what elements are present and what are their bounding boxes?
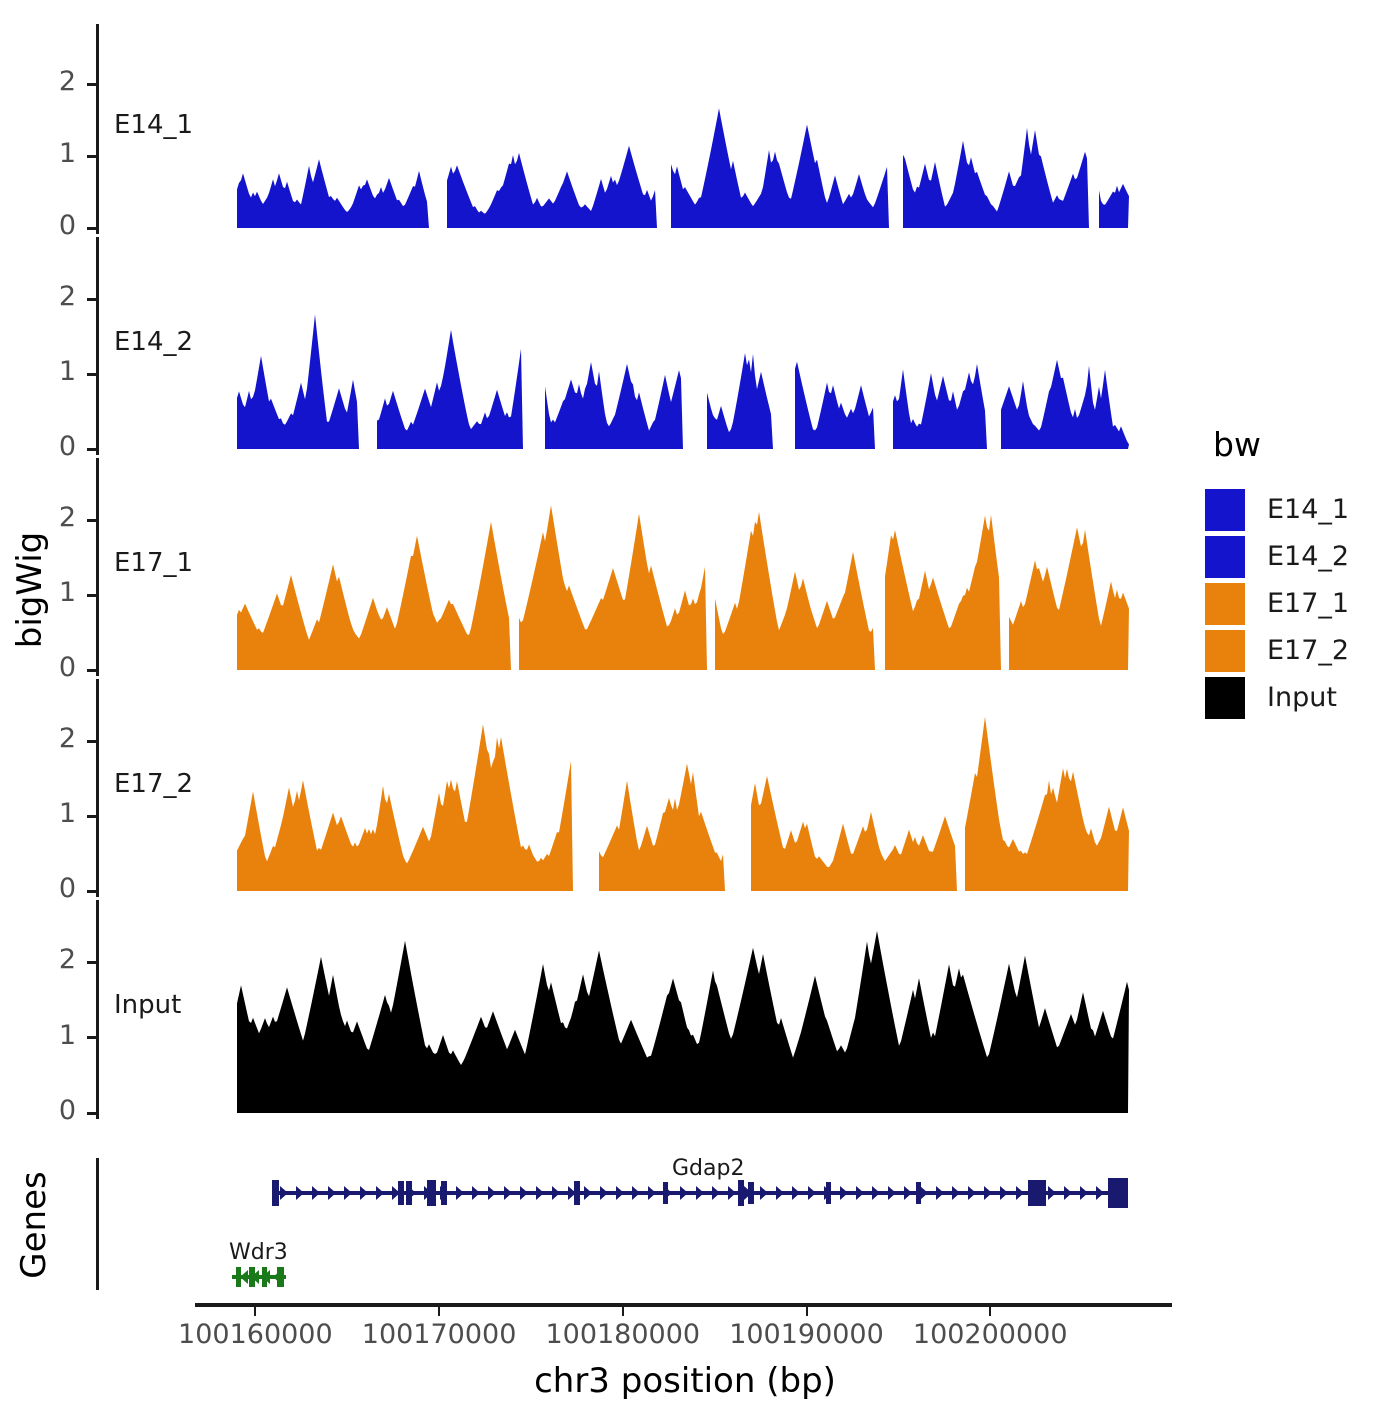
strand-arrow-icon: [664, 1186, 672, 1200]
y-axis-tick: [87, 669, 96, 672]
strand-arrow-icon: [920, 1186, 928, 1200]
strand-arrow-icon: [488, 1186, 496, 1200]
strand-arrow-icon: [744, 1186, 752, 1200]
strand-arrow-icon: [840, 1186, 848, 1200]
strand-arrow-icon: [344, 1186, 352, 1200]
y-axis-tick-label: 0: [16, 652, 76, 683]
y-axis-tick: [87, 298, 96, 301]
y-axis-tick-label: 0: [16, 210, 76, 241]
signal-track-e17_2: [0, 0, 1400, 1400]
legend-title: bw: [1213, 425, 1400, 464]
legend: bw E14_1E14_2E17_1E17_2Input: [1205, 425, 1400, 721]
strand-arrow-icon: [536, 1186, 544, 1200]
x-axis-line: [195, 1303, 1172, 1307]
strand-arrow-icon: [504, 1186, 512, 1200]
strand-arrow-icon: [360, 1186, 368, 1200]
x-axis-tick: [254, 1307, 256, 1316]
x-axis-tick-label: 100200000: [880, 1319, 1100, 1350]
legend-item-e14_1[interactable]: E14_1: [1205, 486, 1400, 533]
exon-block: [441, 1181, 447, 1205]
y-axis-line: [96, 237, 99, 455]
y-axis-tick-label: 2: [16, 281, 76, 312]
legend-swatch: [1205, 489, 1245, 531]
legend-swatch: [1205, 583, 1245, 625]
signal-area: [237, 108, 1129, 228]
legend-swatch: [1205, 536, 1245, 578]
strand-arrow-icon: [584, 1186, 592, 1200]
gene-models: [0, 0, 1400, 1400]
strand-arrow-icon: [262, 1270, 270, 1284]
y-axis-tick: [87, 740, 96, 743]
strand-arrow-icon: [680, 1186, 688, 1200]
strand-arrow-icon: [936, 1186, 944, 1200]
gene-label-wdr3: Wdr3: [229, 1240, 288, 1265]
y-axis-tick: [87, 1036, 96, 1039]
strand-arrow-icon: [1000, 1186, 1008, 1200]
strand-arrow-icon: [392, 1186, 400, 1200]
strand-arrow-icon: [328, 1186, 336, 1200]
strand-arrow-icon: [808, 1186, 816, 1200]
exon-block: [738, 1180, 744, 1206]
strand-arrow-icon: [696, 1186, 704, 1200]
strand-arrow-icon: [616, 1186, 624, 1200]
strand-arrow-icon: [728, 1186, 736, 1200]
strand-arrow-icon: [408, 1186, 416, 1200]
strand-arrow-icon: [632, 1186, 640, 1200]
gene-label-gdap2: Gdap2: [672, 1156, 744, 1181]
strand-arrow-icon: [1112, 1186, 1120, 1200]
y-axis-title-genes: Genes: [14, 1145, 54, 1305]
y-axis-tick-label: 1: [16, 577, 76, 608]
legend-label: E14_2: [1267, 541, 1349, 572]
y-axis-tick-label: 1: [16, 798, 76, 829]
gene-intron-line: [232, 1275, 286, 1279]
y-axis-tick: [87, 890, 96, 893]
strand-arrow-icon: [760, 1186, 768, 1200]
exon-block: [916, 1182, 921, 1204]
strand-arrow-icon: [856, 1186, 864, 1200]
strand-arrow-icon: [648, 1186, 656, 1200]
strand-arrow-icon: [984, 1186, 992, 1200]
strand-arrow-icon: [312, 1186, 320, 1200]
legend-items: E14_1E14_2E17_1E17_2Input: [1205, 486, 1400, 721]
y-axis-tick: [87, 448, 96, 451]
track-label-e14_1: E14_1: [114, 110, 193, 140]
exon-block: [236, 1267, 241, 1287]
gene-intron-line: [272, 1191, 1128, 1195]
y-axis-tick-label: 2: [16, 502, 76, 533]
y-axis-tick: [87, 815, 96, 818]
strand-arrow-icon: [456, 1186, 464, 1200]
strand-arrow-icon: [251, 1270, 259, 1284]
exon-block: [574, 1181, 580, 1205]
x-axis-tick: [806, 1307, 808, 1316]
strand-arrow-icon: [440, 1186, 448, 1200]
strand-arrow-icon: [712, 1186, 720, 1200]
y-axis-line: [96, 458, 99, 676]
exon-block: [277, 1267, 284, 1287]
strand-arrow-icon: [600, 1186, 608, 1200]
y-axis-tick-label: 1: [16, 138, 76, 169]
y-axis-line: [96, 679, 99, 897]
legend-item-e14_2[interactable]: E14_2: [1205, 533, 1400, 580]
signal-area: [237, 717, 1129, 891]
x-axis-tick: [622, 1307, 624, 1316]
legend-swatch: [1205, 677, 1245, 719]
y-axis-tick-label: 0: [16, 873, 76, 904]
y-axis-tick: [87, 519, 96, 522]
y-axis-line: [96, 24, 99, 234]
gene-model: [272, 1178, 1128, 1208]
strand-arrow-icon: [424, 1186, 432, 1200]
track-label-e17_1: E17_1: [114, 548, 193, 578]
signal-area: [237, 314, 1129, 449]
y-axis-tick-label: 0: [16, 431, 76, 462]
y-axis-tick: [87, 227, 96, 230]
legend-swatch: [1205, 630, 1245, 672]
legend-label: E17_1: [1267, 588, 1349, 619]
signal-track-input: [0, 0, 1400, 1400]
strand-arrow-icon: [520, 1186, 528, 1200]
legend-item-e17_1[interactable]: E17_1: [1205, 580, 1400, 627]
gene-model: [232, 1267, 286, 1287]
exon-block: [272, 1180, 279, 1206]
y-axis-tick-label: 2: [16, 944, 76, 975]
signal-track-e14_1: [0, 0, 1400, 1400]
y-axis-tick-label: 1: [16, 356, 76, 387]
strand-arrow-icon: [824, 1186, 832, 1200]
strand-arrow-icon: [552, 1186, 560, 1200]
legend-label: E17_2: [1267, 635, 1349, 666]
signal-area: [237, 931, 1129, 1113]
strand-arrow-icon: [888, 1186, 896, 1200]
track-label-e17_2: E17_2: [114, 769, 193, 799]
strand-arrow-icon: [1048, 1186, 1056, 1200]
y-axis-tick-label: 1: [16, 1020, 76, 1051]
strand-arrow-icon: [1080, 1186, 1088, 1200]
strand-arrow-icon: [904, 1186, 912, 1200]
signal-track-e14_2: [0, 0, 1400, 1400]
strand-arrow-icon: [280, 1186, 288, 1200]
strand-arrow-icon: [1032, 1186, 1040, 1200]
legend-label: E14_1: [1267, 494, 1349, 525]
y-axis-tick: [87, 961, 96, 964]
exon-block: [398, 1181, 404, 1205]
strand-arrow-icon: [273, 1270, 281, 1284]
x-axis-tick: [989, 1307, 991, 1316]
strand-arrow-icon: [776, 1186, 784, 1200]
y-axis-tick: [87, 594, 96, 597]
y-axis-tick: [87, 1112, 96, 1115]
y-axis-line: [96, 900, 99, 1119]
strand-arrow-icon: [240, 1270, 248, 1284]
exon-block: [262, 1267, 267, 1287]
strand-arrow-icon: [1016, 1186, 1024, 1200]
legend-label: Input: [1267, 682, 1337, 713]
x-axis-tick: [438, 1307, 440, 1316]
strand-arrow-icon: [952, 1186, 960, 1200]
y-axis-tick: [87, 83, 96, 86]
x-axis-title: chr3 position (bp): [200, 1361, 1170, 1401]
exon-block: [427, 1180, 436, 1206]
legend-item-e17_2[interactable]: E17_2: [1205, 627, 1400, 674]
y-axis-tick-label: 2: [16, 723, 76, 754]
strand-arrow-icon: [872, 1186, 880, 1200]
exon-block: [1108, 1178, 1128, 1208]
genes-axis-line: [96, 1158, 99, 1290]
y-axis-tick: [87, 373, 96, 376]
strand-arrow-icon: [1096, 1186, 1104, 1200]
track-label-e14_2: E14_2: [114, 327, 193, 357]
exon-block: [406, 1181, 412, 1205]
strand-arrow-icon: [472, 1186, 480, 1200]
track-label-input: Input: [114, 990, 181, 1020]
strand-arrow-icon: [1064, 1186, 1072, 1200]
strand-arrow-icon: [968, 1186, 976, 1200]
strand-arrow-icon: [568, 1186, 576, 1200]
strand-arrow-icon: [792, 1186, 800, 1200]
strand-arrow-icon: [296, 1186, 304, 1200]
y-axis-tick: [87, 155, 96, 158]
y-axis-tick-label: 0: [16, 1095, 76, 1126]
signal-track-e17_1: [0, 0, 1400, 1400]
exon-block: [663, 1182, 668, 1204]
legend-item-input[interactable]: Input: [1205, 674, 1400, 721]
exon-block: [826, 1182, 831, 1204]
exon-block: [249, 1267, 255, 1287]
exon-block: [1028, 1180, 1046, 1206]
y-axis-tick-label: 2: [16, 66, 76, 97]
strand-arrow-icon: [376, 1186, 384, 1200]
signal-area: [237, 505, 1129, 670]
exon-block: [748, 1182, 754, 1204]
